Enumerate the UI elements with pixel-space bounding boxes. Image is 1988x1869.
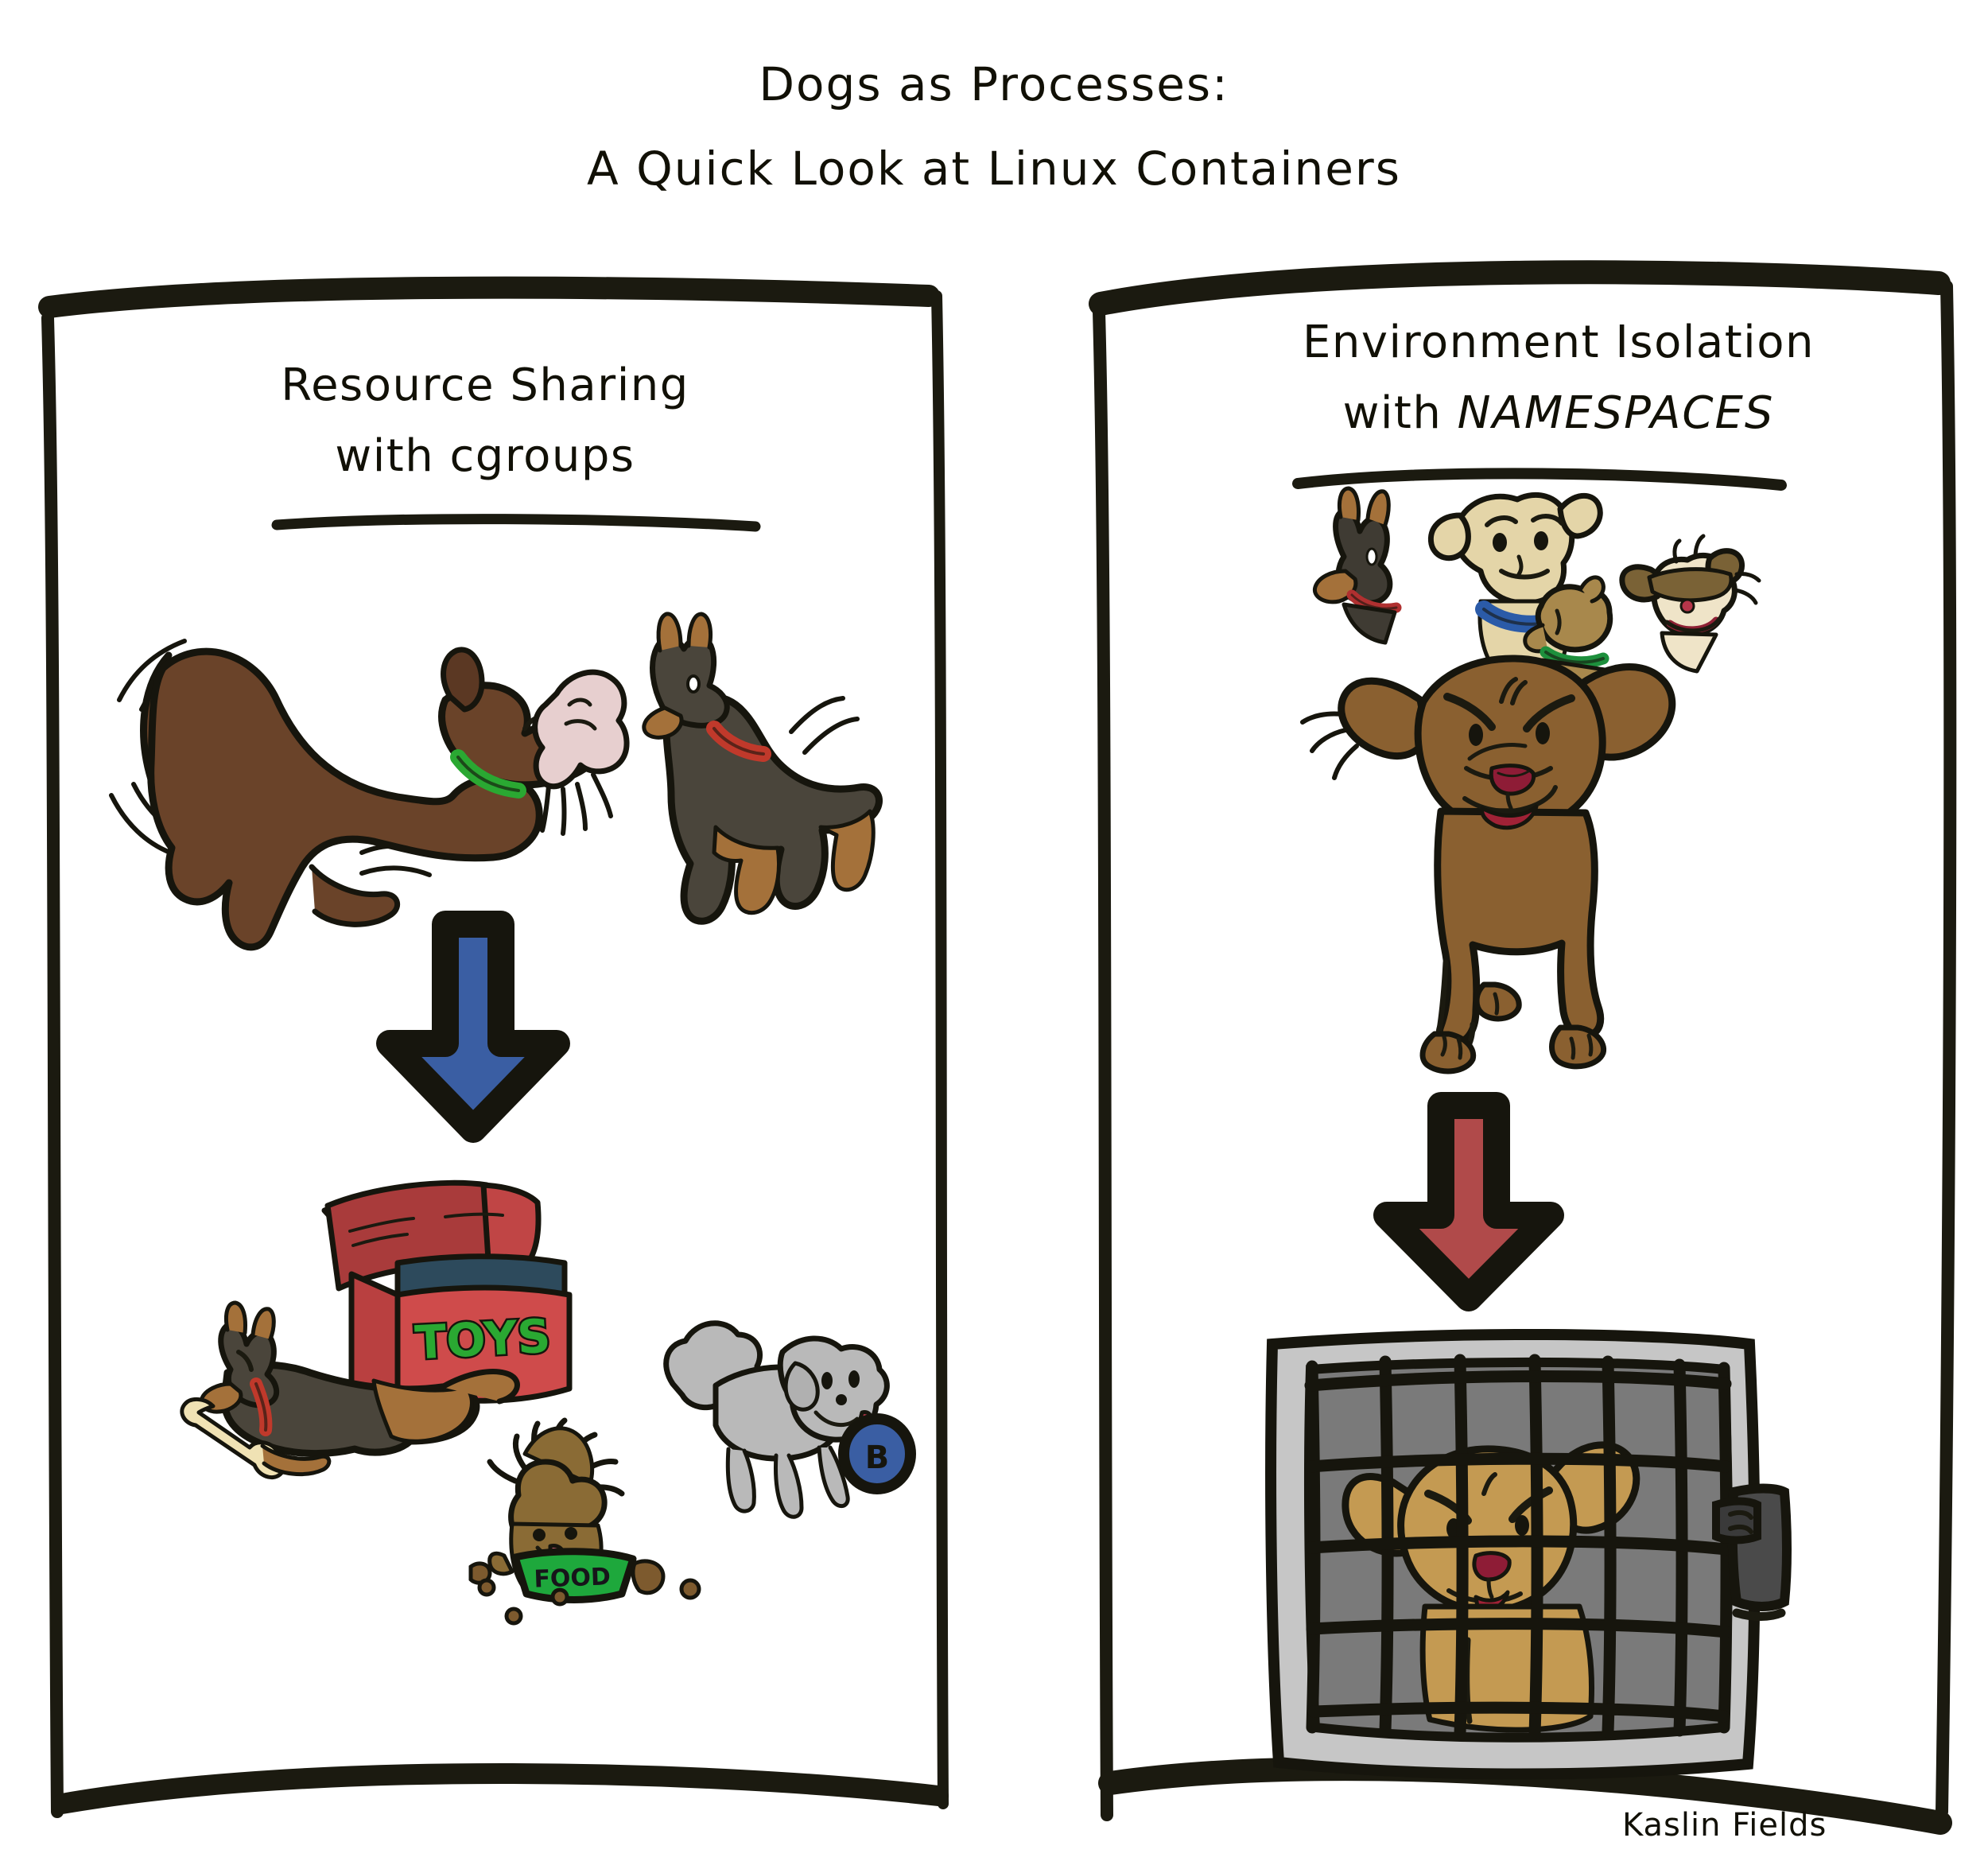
left-panel-heading-line-2: with cgroups — [143, 430, 827, 482]
left-heading-underline — [277, 519, 755, 527]
down-arrow-blue — [390, 924, 557, 1129]
comic-canvas: .ink{fill:none;stroke:#1b1a10;stroke-lin… — [0, 0, 1988, 1869]
food-bowl-label: FOOD — [534, 1563, 612, 1593]
crate-isolation-scene — [1271, 1335, 1787, 1774]
page-title-line-2: A Quick Look at Linux Containers — [0, 142, 1988, 196]
chocolate-lab — [144, 650, 600, 947]
right-panel-heading-prefix: with — [1343, 387, 1458, 439]
right-heading-underline — [1298, 473, 1781, 485]
tug-of-war-scene — [111, 614, 879, 947]
artist-signature: Kaslin Fields — [1622, 1807, 1940, 1844]
right-panel-heading: Environment Isolation with NAMESPACES — [1177, 317, 1940, 439]
right-panel-heading-emphasis: NAMESPACES — [1458, 387, 1775, 439]
down-arrow-red — [1387, 1105, 1551, 1298]
left-panel-heading-line-1: Resource Sharing — [143, 359, 827, 411]
grey-poodle — [666, 1323, 887, 1517]
head-doberman — [1314, 488, 1396, 643]
toy-box-label: TOYS — [414, 1309, 552, 1370]
head-scruffy-dog — [1622, 536, 1759, 671]
page-title-line-1: Dogs as Processes: — [0, 57, 1988, 111]
plush-toy — [535, 672, 627, 833]
doberman-tugging — [644, 614, 879, 921]
right-panel-heading-line-1: Environment Isolation — [1177, 317, 1940, 368]
shared-resources-scene: TOYS — [182, 1183, 911, 1623]
left-panel-heading: Resource Sharing with cgroups — [143, 359, 827, 482]
toy-box — [324, 1183, 569, 1416]
big-brown-dog-grumpy — [1303, 659, 1672, 1071]
tennis-ball-label: B — [865, 1440, 890, 1476]
right-panel-heading-line-2: with NAMESPACES — [1177, 387, 1940, 439]
many-dogs-one-room-scene — [1303, 488, 1759, 1071]
